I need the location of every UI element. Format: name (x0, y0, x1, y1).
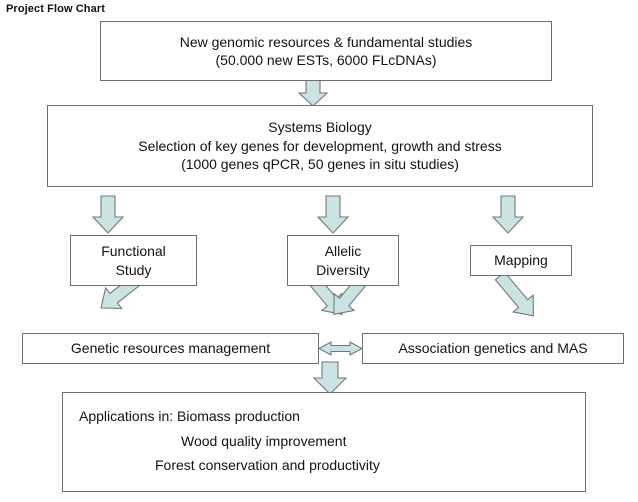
node-mapping[interactable]: Mapping (470, 245, 572, 276)
node-association-genetics-label: Association genetics and MAS (398, 339, 587, 357)
applications-item-2: Wood quality improvement (181, 433, 346, 449)
systems-to-allelic-diversity-arrow (318, 196, 348, 233)
to-applications-arrow (314, 362, 346, 394)
systems-to-mapping-arrow (493, 196, 523, 233)
flow-chart-canvas: Project Flow Chart N (0, 0, 638, 502)
node-genetic-resources-management[interactable]: Genetic resources management (22, 333, 319, 364)
node-functional-study-line-1: Functional (101, 242, 166, 260)
node-systems-biology-line-2: Selection of key genes for development, … (138, 137, 501, 155)
applications-label: Applications in: (79, 407, 177, 426)
node-genetic-resources-management-label: Genetic resources management (71, 339, 270, 357)
node-genomic-resources[interactable]: New genomic resources & fundamental stud… (100, 21, 552, 81)
applications-row-3: Forest conservation and productivity (63, 456, 585, 475)
node-systems-biology-line-3: (1000 genes qPCR, 50 genes in situ studi… (181, 155, 459, 173)
node-systems-biology-line-1: Systems Biology (268, 118, 371, 136)
mapping-to-association-genetics-arrow (490, 268, 543, 325)
applications-row-1: Applications in:Biomass production (63, 407, 585, 426)
applications-item-3: Forest conservation and productivity (155, 457, 380, 473)
node-mapping-line-1: Mapping (494, 251, 548, 269)
genomic-to-systems-arrow (299, 80, 327, 106)
node-applications[interactable]: Applications in:Biomass production Wood … (62, 392, 586, 492)
node-systems-biology[interactable]: Systems Biology Selection of key genes f… (47, 105, 593, 187)
node-genomic-resources-line-2: (50.000 new ESTs, 6000 FLcDNAs) (216, 51, 437, 69)
applications-item-1: Biomass production (177, 408, 300, 424)
node-functional-study-line-2: Study (116, 261, 152, 279)
systems-to-functional-study-arrow (93, 196, 123, 233)
node-allelic-diversity-line-2: Diversity (316, 261, 370, 279)
node-allelic-diversity[interactable]: Allelic Diversity (287, 235, 399, 286)
genetic-resources-association-genetics-link-arrow (319, 342, 362, 355)
node-functional-study[interactable]: Functional Study (70, 235, 197, 286)
node-genomic-resources-line-1: New genomic resources & fundamental stud… (180, 33, 473, 51)
applications-row-2: Wood quality improvement (63, 432, 585, 451)
node-allelic-diversity-line-1: Allelic (325, 242, 362, 260)
node-association-genetics[interactable]: Association genetics and MAS (362, 333, 624, 364)
